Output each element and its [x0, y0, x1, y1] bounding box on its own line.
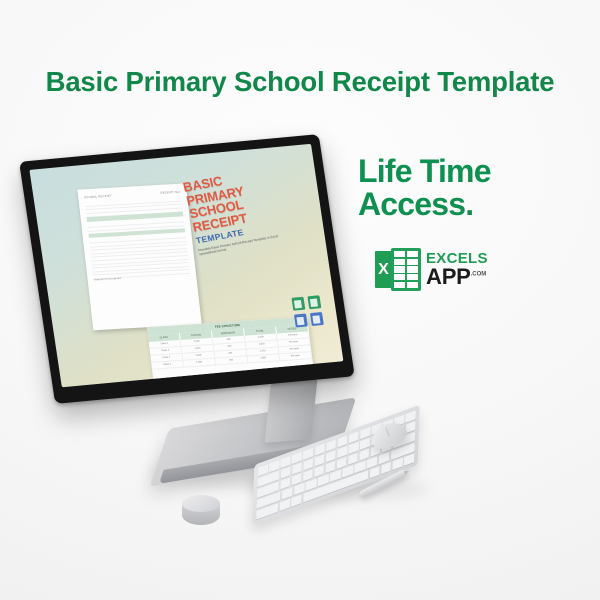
monitor-screen: SCHOOL RECEIPT RECEIPT NO.: [29, 144, 343, 387]
cell: Class 4: [151, 361, 184, 369]
monitor: SCHOOL RECEIPT RECEIPT NO.: [19, 134, 355, 404]
cell: 300: [215, 356, 248, 364]
logo-x-letter: X: [375, 251, 392, 288]
brand-suffix: .COM: [471, 272, 487, 278]
receipt-header-right: RECEIPT NO.: [160, 190, 181, 195]
excel-file-icon[interactable]: [291, 297, 305, 311]
cell: Per term: [279, 352, 312, 360]
receipt-header-left: SCHOOL RECEIPT: [84, 194, 112, 200]
promo-line-1: Life Time: [358, 155, 588, 188]
brand-wordmark: EXCELS APP.COM: [426, 251, 488, 288]
brand-logo[interactable]: X EXCELS APP.COM: [375, 248, 488, 291]
monitor-neck: [265, 379, 318, 443]
product-banner: Basic Primary School Receipt Template SC…: [0, 0, 600, 600]
receipt-document: SCHOOL RECEIPT RECEIPT NO.: [77, 183, 201, 330]
word-file-icon[interactable]: [310, 312, 324, 326]
word-file-icon[interactable]: [294, 314, 308, 328]
surface-dial[interactable]: [182, 495, 220, 527]
promo-line-2: Access.: [358, 188, 588, 221]
desk-scene: SCHOOL RECEIPT RECEIPT NO.: [0, 0, 600, 600]
cell: 1,500: [183, 359, 216, 367]
desktop-icons: [291, 295, 323, 327]
cell: 1,800: [247, 354, 280, 362]
screen-title-block: BASIC PRIMARY SCHOOL RECEIPT TEMPLATE Pr…: [182, 160, 316, 257]
brand-word-bottom: APP: [426, 264, 471, 289]
promo-block: Life Time Access.: [358, 155, 588, 221]
excel-logo-icon: X: [375, 248, 421, 291]
excel-file-icon[interactable]: [307, 295, 321, 309]
